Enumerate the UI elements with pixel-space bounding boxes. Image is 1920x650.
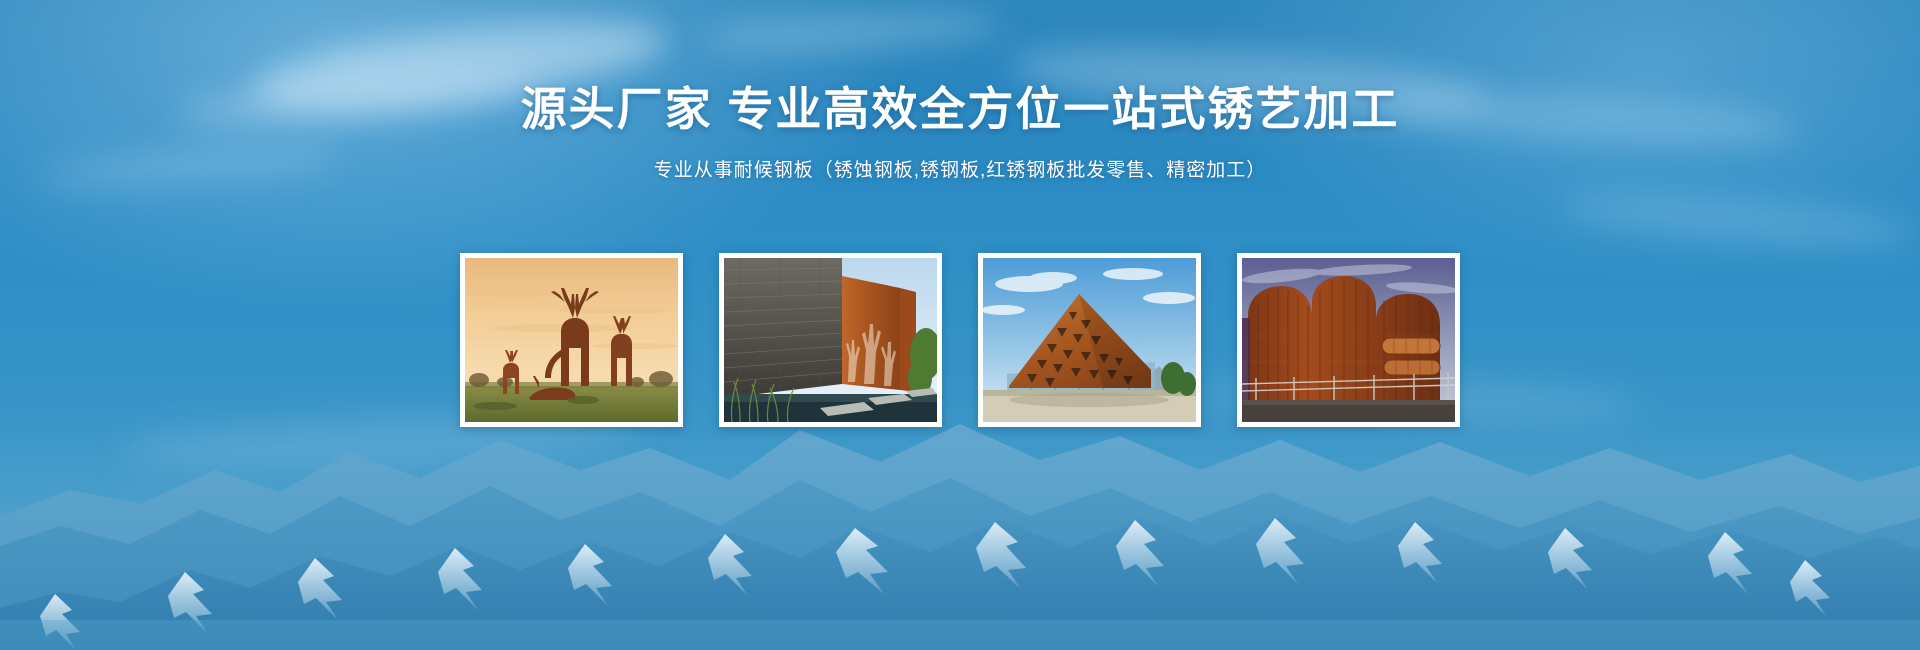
thumbnail-corten-curved-building[interactable] — [1237, 253, 1460, 427]
thumbnail-corten-screen-wall[interactable] — [719, 253, 942, 427]
thumbnail-image — [724, 258, 937, 422]
thumbnail-image — [983, 258, 1196, 422]
cloud-wisp — [699, 6, 1000, 58]
thumbnail-corten-deer-sculpture[interactable] — [460, 253, 683, 427]
cloud-wisp — [1559, 184, 1920, 255]
thumbnail-corten-triangular-pavilion[interactable] — [978, 253, 1201, 427]
page-title: 源头厂家 专业高效全方位一站式锈艺加工 — [0, 82, 1920, 137]
page-subtitle: 专业从事耐候钢板（锈蚀钢板,锈钢板,红锈钢板批发零售、精密加工） — [0, 155, 1920, 182]
thumbnail-image — [1242, 258, 1455, 422]
thumbnail-image — [465, 258, 678, 422]
thumbnail-gallery — [0, 253, 1920, 427]
hero-banner: 源头厂家 专业高效全方位一站式锈艺加工 专业从事耐候钢板（锈蚀钢板,锈钢板,红锈… — [0, 0, 1920, 650]
